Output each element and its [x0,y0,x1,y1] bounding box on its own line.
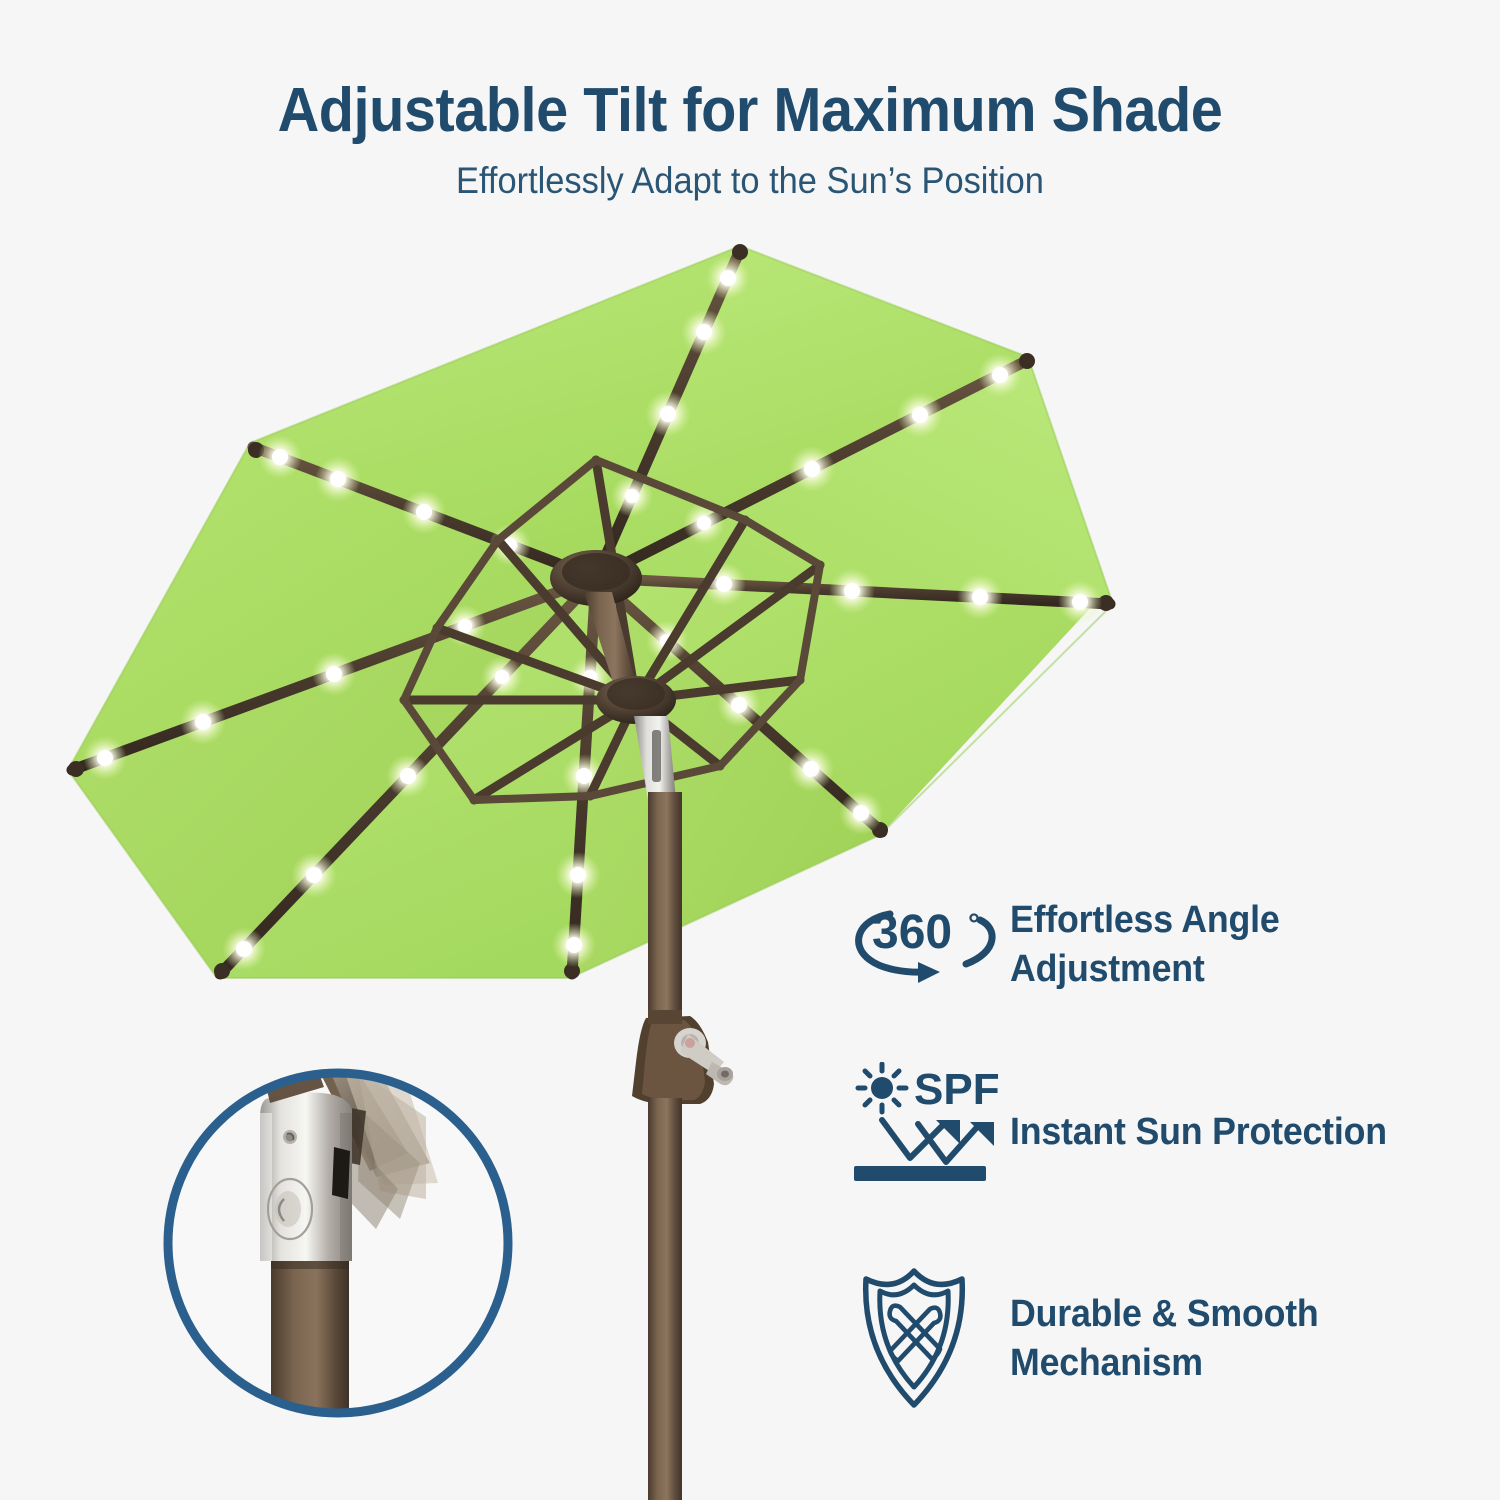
feature-label-line1: Instant Sun Protection [1010,1108,1387,1157]
umbrella-pole-base [648,1098,682,1500]
feature-label-durability: Durable & Smooth Mechanism [1010,1290,1319,1387]
feature-label-line2: Adjustment [1010,945,1280,994]
spf-sun-protection-icon: SPF [845,1057,1010,1207]
feature-list: 360 ° Effortless Angle Adjustment [845,885,1485,1471]
rotation-360-icon: 360 ° [845,885,1010,1005]
feature-label-angle-adjustment: Effortless Angle Adjustment [1010,896,1280,993]
rotation-360-label: 360 [872,906,952,959]
shield-wrench-icon [845,1259,1010,1419]
degree-symbol: ° [968,908,980,941]
feature-label-line1: Durable & Smooth [1010,1290,1319,1339]
spf-label: SPF [914,1065,1000,1114]
feature-label-sun-protection: Instant Sun Protection [1010,1108,1387,1157]
feature-label-line2: Mechanism [1010,1339,1319,1388]
umbrella-pole-lower [648,792,682,1044]
feature-item-durability: Durable & Smooth Mechanism [845,1259,1485,1419]
tilt-mechanism-inset [108,1013,568,1473]
crank-mechanism [632,1010,733,1104]
product-feature-infographic: Adjustable Tilt for Maximum Shade Effort… [0,0,1500,1500]
feature-item-sun-protection: SPF Instant Sun Protection [845,1057,1485,1207]
feature-label-line1: Effortless Angle [1010,896,1280,945]
feature-item-angle-adjustment: 360 ° Effortless Angle Adjustment [845,885,1485,1005]
